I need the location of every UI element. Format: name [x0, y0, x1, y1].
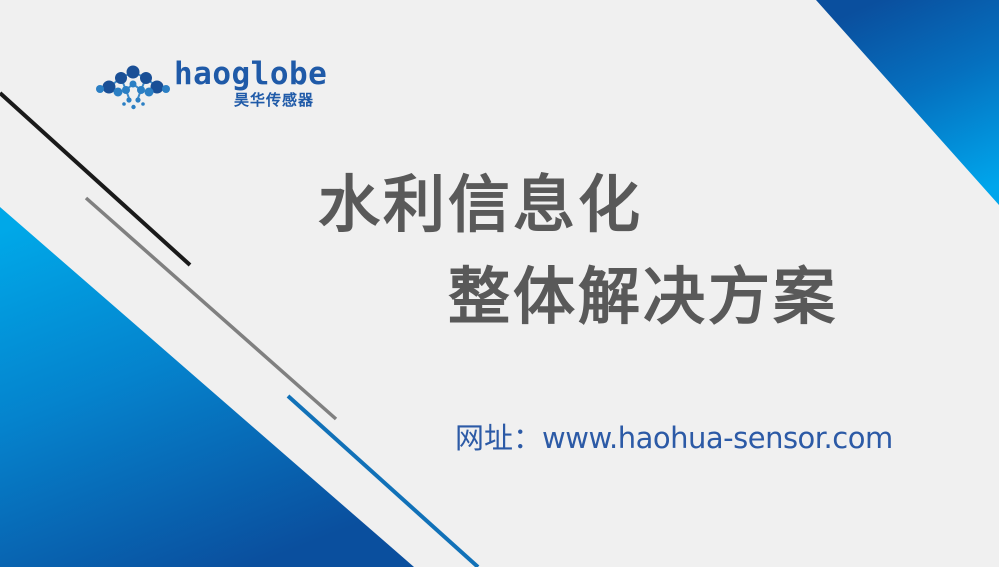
- brand-wordmark: haoglobe: [174, 57, 327, 91]
- website-url[interactable]: www.haohua-sensor.com: [542, 421, 893, 455]
- title-line-2: 整体解决方案: [448, 258, 838, 336]
- brand-wordmark-group: haoglobe 昊华传感器: [174, 57, 314, 119]
- website-line: 网址：www.haohua-sensor.com: [455, 418, 893, 458]
- page-title: 水利信息化 整体解决方案: [0, 158, 999, 358]
- title-line-1: 水利信息化: [318, 166, 643, 244]
- website-label: 网址：: [455, 421, 542, 455]
- diagonal-line-blue: [288, 396, 478, 567]
- brand-subtext: 昊华传感器: [234, 91, 314, 109]
- slide-canvas: haoglobe 昊华传感器 水利信息化 整体解决方案 网址：www.haohu…: [0, 0, 999, 567]
- network-nodes-icon: [96, 61, 170, 115]
- brand-logo: haoglobe 昊华传感器: [96, 57, 316, 119]
